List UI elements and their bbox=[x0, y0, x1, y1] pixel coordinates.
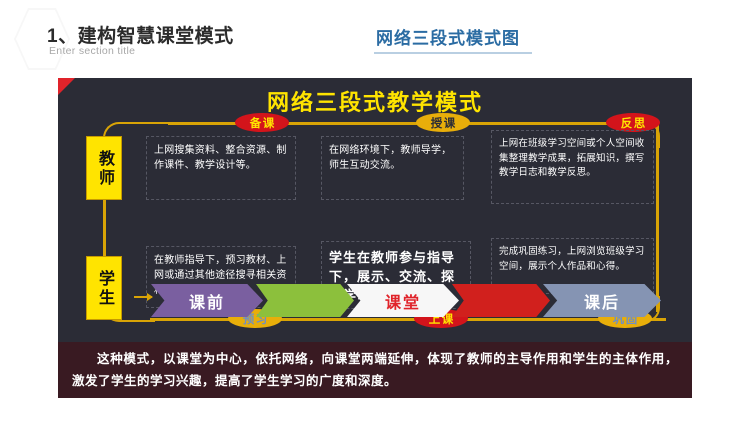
page-title: 1、建构智慧课堂模式 bbox=[47, 21, 234, 48]
phase-arrow-spacer-1 bbox=[256, 284, 354, 317]
diagram-title: 网络三段式教学模式 bbox=[58, 85, 692, 117]
teacher-card-1: 上网搜集资料、整合资源、制作课件、教学设计等。 bbox=[146, 136, 296, 200]
process-entry-arrow-icon bbox=[134, 296, 152, 298]
phase-arrow-spacer-2 bbox=[452, 284, 550, 317]
teacher-card-2: 在网络环境下，教师导学，师生互动交流。 bbox=[321, 136, 464, 200]
phase-arrow-keqian: 课前 bbox=[151, 284, 263, 317]
slide-heading-underline bbox=[374, 52, 532, 54]
slide-heading: 网络三段式模式图 bbox=[376, 24, 520, 49]
phase-arrow-ketang: 课堂 bbox=[347, 284, 459, 317]
connector-line-right bbox=[656, 122, 659, 312]
role-label-student: 学生 bbox=[86, 256, 122, 320]
slide-header: 1、建构智慧课堂模式 Enter section title 网络三段式模式图 bbox=[0, 0, 750, 72]
section-subtitle: Enter section title bbox=[49, 45, 135, 57]
teacher-card-3: 上网在班级学习空间或个人空间收集整理教学成果，拓展知识，撰写教学日志和教学反思。 bbox=[491, 130, 654, 204]
diagram-summary-text: 这种模式，以课堂为中心，依托网络，向课堂两端延伸，体现了教师的主导作用和学生的主… bbox=[58, 342, 692, 398]
phase-arrow-kehou: 课后 bbox=[543, 284, 661, 317]
stage-label-shouke: 授课 bbox=[416, 113, 470, 132]
role-label-teacher: 教师 bbox=[86, 136, 122, 200]
stage-label-beike: 备课 bbox=[235, 113, 289, 132]
diagram-panel: 网络三段式教学模式 备课 授课 反思 预习 上课 巩固 教师 学生 上网搜集资料… bbox=[58, 78, 692, 398]
